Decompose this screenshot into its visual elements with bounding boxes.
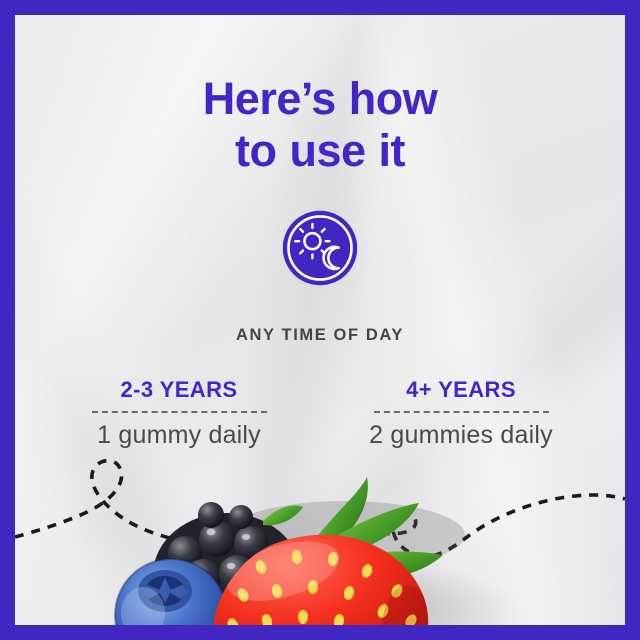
fruit-cluster — [15, 15, 625, 625]
marble-background: Here’s how to use it — [15, 15, 625, 625]
infographic-card: Here’s how to use it — [0, 0, 640, 640]
